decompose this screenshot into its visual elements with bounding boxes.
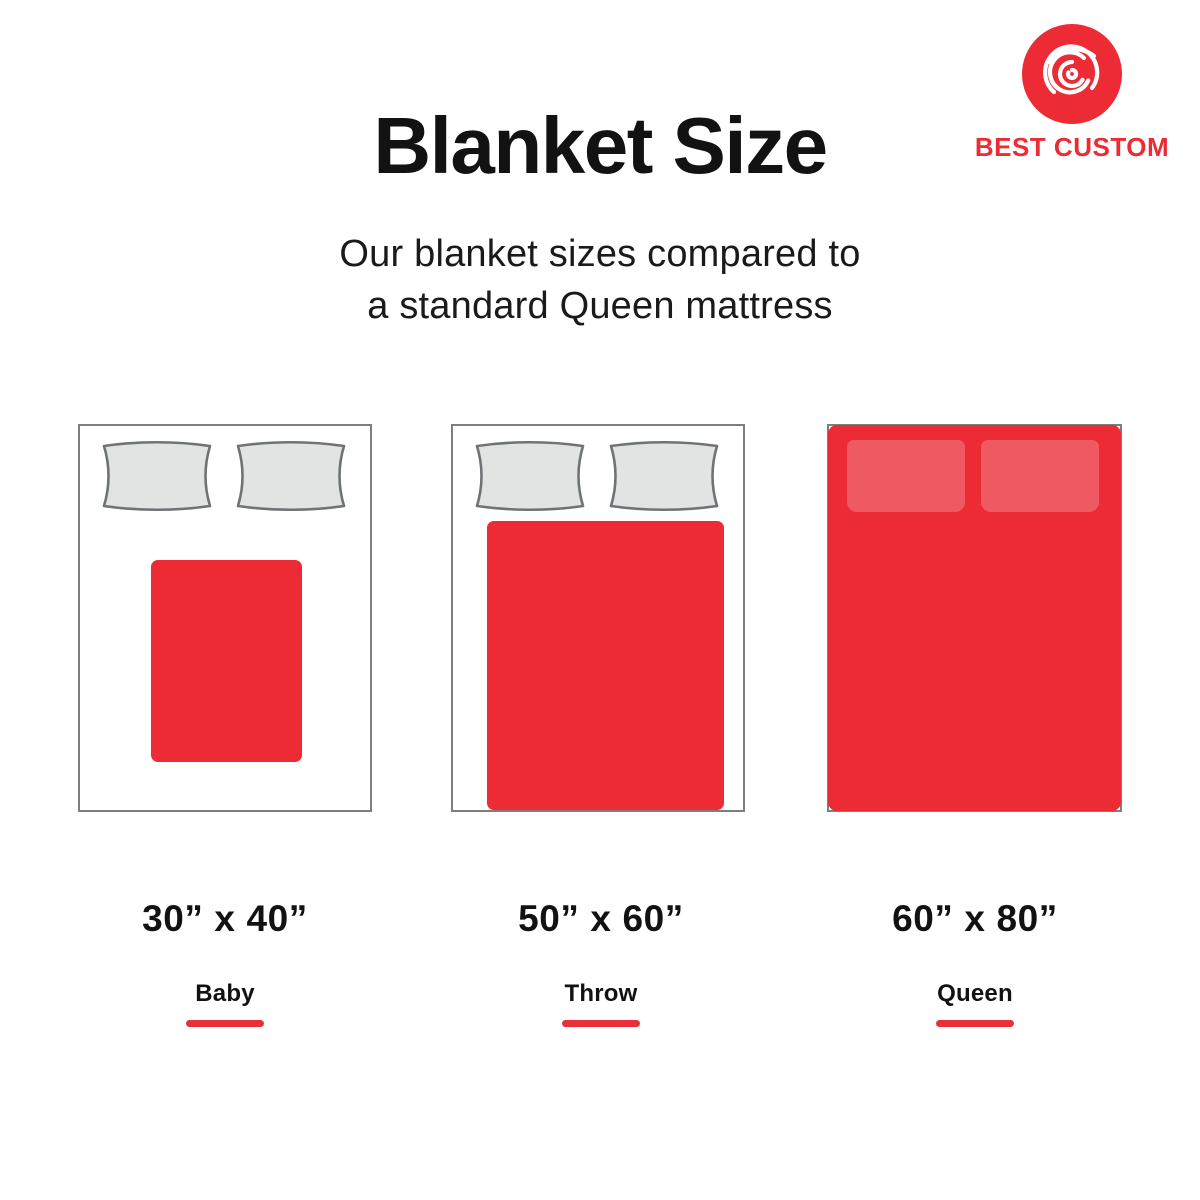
- bed-diagram-throw: [451, 424, 745, 812]
- blanket-shape-queen: [828, 425, 1121, 811]
- caption-baby: 30” x 40” Baby: [75, 898, 375, 1027]
- dimensions-label: 60” x 80”: [825, 898, 1125, 940]
- product-name-label: Queen: [825, 980, 1125, 1008]
- blanket-size-infographic: BEST CUSTOM Blanket Size Our blanket siz…: [0, 0, 1200, 1200]
- subtitle-line-1: Our blanket sizes compared to: [0, 228, 1200, 280]
- dimensions-label: 30” x 40”: [75, 898, 375, 940]
- caption-queen: 60” x 80” Queen: [825, 898, 1125, 1027]
- caption-row: 30” x 40” Baby 50” x 60” Throw 60” x 80”…: [0, 898, 1200, 1058]
- accent-underline: [562, 1020, 640, 1027]
- bed-comparison-row: [0, 424, 1200, 816]
- product-name-label: Throw: [451, 980, 751, 1008]
- pillow-right-icon: [232, 440, 350, 512]
- dimensions-label: 50” x 60”: [451, 898, 751, 940]
- blanket-shape-baby: [151, 560, 302, 762]
- blanket-shape-throw: [487, 521, 724, 810]
- accent-underline: [186, 1020, 264, 1027]
- page-title: Blanket Size: [0, 104, 1200, 188]
- bed-diagram-baby: [78, 424, 372, 812]
- pillow-left-icon: [471, 440, 589, 512]
- caption-throw: 50” x 60” Throw: [451, 898, 751, 1027]
- pillow-right-icon: [605, 440, 723, 512]
- pillow-left-icon: [847, 440, 965, 512]
- accent-underline: [936, 1020, 1014, 1027]
- pillow-right-icon: [981, 440, 1099, 512]
- pillow-left-icon: [98, 440, 216, 512]
- page-subtitle: Our blanket sizes compared to a standard…: [0, 228, 1200, 333]
- subtitle-line-2: a standard Queen mattress: [0, 280, 1200, 332]
- bed-diagram-queen: [827, 424, 1122, 812]
- product-name-label: Baby: [75, 980, 375, 1008]
